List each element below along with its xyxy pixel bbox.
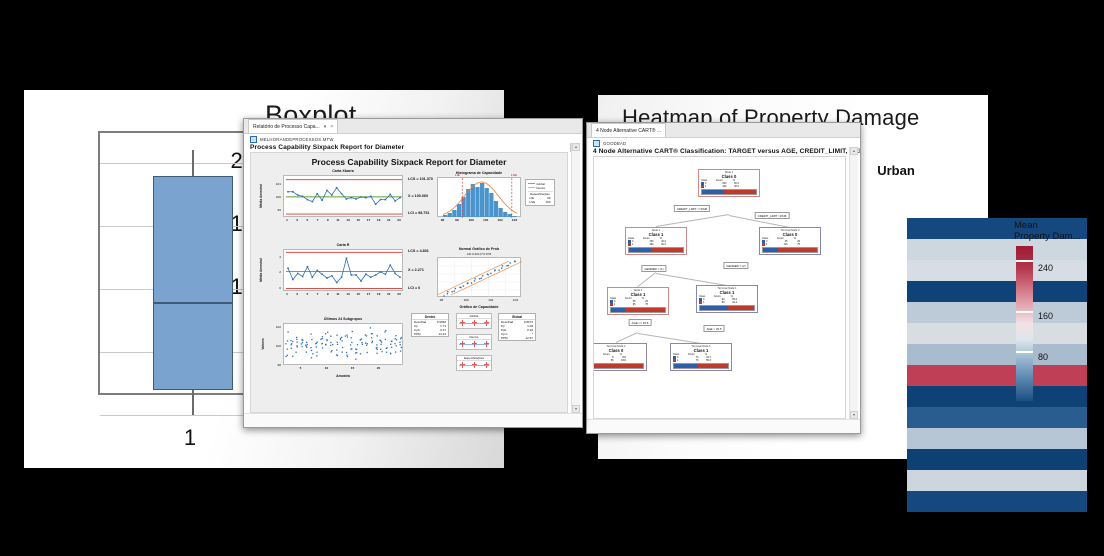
cart-status-bar [587, 419, 860, 433]
heatmap-cell [907, 323, 1087, 344]
heatmap-legend: Mean Property Dam... 240 160 80 [1014, 220, 1100, 242]
cart-node-table: ClassCount%0552519575 [610, 297, 666, 306]
capability-mini-box: Dentro [456, 334, 492, 350]
sixpack-x-tick: 13 [345, 218, 351, 222]
mini-box-scale [457, 340, 491, 349]
sixpack-y-tick: 99 [271, 208, 281, 212]
tab-sixpack-report[interactable]: Relatório de Processo Capa... ▾ × [248, 119, 338, 133]
sixpack-worksheet-name: MELHORANDEPROCESSOS.MTW [260, 137, 334, 142]
boxplot-whisker-upper [192, 150, 194, 176]
cart-edge [656, 214, 729, 227]
legend-swatch [528, 187, 535, 188]
cart-node-table: ClassCount%09055.618044.4 [699, 295, 755, 304]
worksheet-icon [250, 136, 257, 143]
spec-cell: LSE [530, 200, 536, 204]
histogram-legend: GlobalDentroEspecificaçõesLIE99LSE100 [525, 179, 555, 206]
boxplot-whisker-lower [192, 390, 194, 415]
cart-split-label: AGE > 33.5 [703, 325, 724, 332]
sixpack-chart-title: Normal Gráfico de Prob [459, 247, 499, 251]
sixpack-y-tick: 100 [271, 195, 281, 199]
cart-edge [638, 273, 656, 287]
sixpack-chart-title: Histograma de Capacidade [456, 171, 502, 175]
cart-node-table: ClassCount%02525111575 [762, 237, 818, 246]
heatmap-legend-tick: 240 [1038, 263, 1053, 273]
sixpack-plot-area [283, 249, 403, 291]
cart-tab-bar[interactable]: 4 Node Alternative CART® ... [587, 123, 860, 138]
cart-node[interactable]: Terminal Node 2Class 0ClassCount%089%156… [593, 343, 647, 371]
within-cell: 13.43 [438, 332, 446, 336]
sixpack-x-axis-label: Amostra [336, 374, 350, 378]
sixpack-lcl-label: LCI = 0 [408, 286, 420, 290]
sixpack-tab-bar[interactable]: Relatório de Processo Capa... ▾ × [244, 119, 582, 134]
sixpack-x-tick: 5 [304, 292, 310, 296]
sixpack-x-tick: 11 [335, 218, 341, 222]
sixpack-x-tick: 23 [396, 292, 402, 296]
heatmap-cell [907, 239, 1087, 260]
sixpack-canvas-area: Process Capability Sixpack Report for Di… [250, 152, 568, 413]
window-sixpack-report[interactable]: Relatório de Processo Capa... ▾ × MELHOR… [243, 118, 583, 428]
presentation-canvas: Boxplot 0 5 10 15 20 1 Heatmap of Proper… [0, 0, 1104, 556]
capability-mini-box: Especificações [456, 355, 492, 371]
sixpack-y-tick: 102 [270, 325, 281, 329]
sixpack-x-tick: 13 [345, 292, 351, 296]
boxplot-median-line [153, 302, 233, 304]
sixpack-x-tick: 101 [481, 218, 490, 222]
worksheet-icon [593, 140, 600, 147]
sixpack-center-label: X = 2.271 [408, 268, 424, 272]
heatmap-cell [907, 302, 1087, 323]
cart-node[interactable]: Node 2Class 1ClassCount%015040.0119060.0 [625, 227, 687, 255]
overall-cell: PPM [501, 336, 508, 340]
spec-limit-label: LIE [455, 173, 460, 177]
sixpack-ucl-label: LCS = 101.370 [408, 177, 433, 181]
sixpack-chart-title: Últimos 24 Subgrupos [324, 317, 362, 321]
cart-node-bar [762, 247, 818, 253]
sixpack-x-tick: 99 [452, 218, 461, 222]
sixpack-x-tick: 15 [355, 292, 361, 296]
sixpack-x-tick: 103 [511, 298, 520, 302]
cart-split-label: AGE <= 33.5 [629, 319, 652, 326]
spec-cell: 100 [545, 200, 550, 204]
cart-worksheet-name: GOODBAD [603, 141, 626, 146]
sixpack-x-tick: 17 [365, 292, 371, 296]
sixpack-x-tick: 23 [396, 218, 402, 222]
sixpack-x-tick: 5 [304, 218, 310, 222]
overall-cell: 12.97 [525, 336, 533, 340]
cart-node-table: ClassCount%015040.0119060.0 [628, 237, 684, 246]
sixpack-x-tick: 20 [375, 366, 382, 370]
sixpack-x-tick: 3 [294, 218, 300, 222]
overall-row: PPM12.97 [499, 336, 535, 340]
cart-node[interactable]: Node 1Class 0ClassCount%060060.0140040.0 [698, 169, 760, 197]
cart-edge [638, 333, 701, 344]
heatmap-legend-tick: 80 [1038, 352, 1048, 362]
heatmap-cell [907, 386, 1087, 407]
cart-node[interactable]: Node 4Class 1ClassCount%0552519575 [607, 287, 669, 315]
heatmap-cell [907, 491, 1087, 512]
heatmap-cell [907, 260, 1087, 281]
cart-node-table: ClassCount%089%15691% [593, 353, 644, 362]
within-row: PPM13.43 [412, 332, 448, 336]
sixpack-x-tick: 15 [349, 366, 356, 370]
sixpack-x-tick: 102 [496, 218, 505, 222]
chevron-down-icon[interactable]: ▾ [324, 124, 327, 130]
cart-node-bar [628, 247, 684, 253]
sixpack-x-tick: 100 [467, 218, 476, 222]
sixpack-worksheet-row: MELHORANDEPROCESSOS.MTW [244, 134, 582, 143]
cart-edge [656, 273, 727, 286]
sixpack-y-tick: 4 [271, 255, 281, 259]
sixpack-y-tick: 0 [271, 286, 281, 290]
scroll-up-icon[interactable]: ▴ [572, 143, 580, 151]
sixpack-x-tick: 9 [325, 218, 331, 222]
boxplot-xtick: 1 [184, 425, 196, 451]
tab-cart-report[interactable]: 4 Node Alternative CART® ... [591, 123, 666, 137]
cart-node-bar [610, 307, 666, 313]
heatmap-cell [907, 428, 1087, 449]
cart-split-label: GENDER = (1) [641, 265, 666, 272]
sixpack-x-tick: 7 [315, 218, 321, 222]
sixpack-x-tick: 3 [294, 292, 300, 296]
sixpack-plot-area [283, 323, 403, 365]
heatmap-cell [907, 344, 1087, 365]
close-icon[interactable]: × [330, 124, 333, 130]
sixpack-y-tick: 101 [271, 182, 281, 186]
sixpack-x-tick: 5 [297, 366, 304, 370]
colorbar-notch [1016, 311, 1033, 313]
cart-tree-diagram: Node 1Class 0ClassCount%060060.0140040.0… [594, 157, 845, 418]
sixpack-y-tick: 100 [270, 344, 281, 348]
sixpack-x-tick: 19 [376, 292, 382, 296]
sixpack-plot-area [437, 177, 521, 217]
sixpack-y-axis-label: Média Amostral [259, 258, 263, 282]
cart-split-label: CREDIT_LIMIT >1546 [755, 212, 790, 219]
sixpack-chart-subtitle: AD:0.201;P:0.878 [467, 252, 491, 256]
boxplot-chart: 0 5 10 15 20 1 [40, 125, 255, 455]
capability-table: DentroDesvPad0.9566Cp1.71CpK0.37PPM13.43 [411, 313, 449, 337]
sixpack-chart-title: Carta Xbarra [332, 169, 354, 173]
colorbar-notch [1016, 260, 1033, 262]
cart-node[interactable]: Terminal Node 4Class 1ClassCount%07044.7… [670, 343, 732, 371]
sixpack-x-tick: 11 [335, 292, 341, 296]
capability-mini-box: Global [456, 313, 492, 329]
mini-box-scale [457, 361, 491, 370]
sixpack-x-tick: 21 [386, 218, 392, 222]
colorbar-notch [1016, 351, 1033, 353]
sixpack-x-tick: 98 [438, 218, 447, 222]
sixpack-ucl-label: LCS = 4.801 [408, 249, 429, 253]
cart-canvas-area: Node 1Class 0ClassCount%060060.0140040.0… [593, 156, 846, 419]
cart-worksheet-row: GOODBAD [587, 138, 860, 147]
sixpack-x-tick: 7 [315, 292, 321, 296]
within-cell: PPM [414, 332, 421, 336]
sixpack-scrollbar[interactable]: ▴ ▾ [571, 143, 580, 413]
spec-limit-label: LSE [511, 173, 517, 177]
cart-scrollbar[interactable]: ▴ ▾ [849, 147, 858, 419]
legend-swatch [528, 183, 535, 184]
sixpack-y-axis-label: Média Amostral [259, 184, 263, 208]
sixpack-x-tick: 102 [486, 298, 495, 302]
heatmap-colorbar [1016, 246, 1033, 401]
sixpack-chart-title: Carta R [337, 243, 350, 247]
legend-label: Dentro [537, 186, 546, 190]
sixpack-plot-area [437, 257, 521, 297]
heatmap-column-header: Urban [877, 163, 915, 178]
sixpack-x-tick: 15 [355, 218, 361, 222]
capability-table: GlobalDesvPad0.8673Pp1.08Ppk0.36Cpm*PPM1… [498, 313, 536, 341]
scroll-up-icon[interactable]: ▴ [850, 147, 858, 155]
scroll-down-icon[interactable]: ▾ [572, 405, 580, 413]
cart-node-table: ClassCount%060060.0140040.0 [701, 179, 757, 188]
heatmap-legend-title-line1: Mean [1014, 220, 1100, 231]
sixpack-y-tick: 2 [271, 270, 281, 274]
sixpack-chart-title: Gráfico de Capacidade [460, 305, 499, 309]
sixpack-status-bar [244, 413, 582, 427]
cart-node-bar [673, 363, 729, 369]
sixpack-x-tick: 19 [376, 218, 382, 222]
sixpack-x-tick: 21 [386, 292, 392, 296]
heatmap-cell [907, 449, 1087, 470]
heatmap-legend-title-line2: Property Dam... [1014, 231, 1100, 242]
sixpack-x-tick: 1 [284, 218, 290, 222]
sixpack-lcl-label: LCI = 98.751 [408, 211, 429, 215]
tab-sixpack-label: Relatório de Processo Capa... [253, 124, 320, 130]
sixpack-report-graphic: Process Capability Sixpack Report for Di… [251, 153, 567, 412]
heatmap-cell [907, 470, 1087, 491]
sixpack-x-tick: 98 [437, 298, 446, 302]
heatmap-legend-tick: 160 [1038, 311, 1053, 321]
sixpack-x-tick: 103 [510, 218, 519, 222]
tab-cart-label: 4 Node Alternative CART® ... [596, 128, 661, 134]
legend-item: Dentro [528, 186, 553, 190]
sixpack-plot-area [283, 175, 403, 217]
sixpack-x-tick: 9 [325, 292, 331, 296]
sixpack-y-axis-label: Valores [261, 338, 265, 349]
boxplot-box [153, 176, 233, 390]
heatmap-cell [907, 365, 1087, 386]
cart-split-label: GENDER = (2) [723, 262, 748, 269]
cart-node-table: ClassCount%07044.717655.3 [673, 353, 729, 362]
sixpack-y-tick: 98 [270, 363, 281, 367]
cart-node[interactable]: Terminal Node 1Class 1ClassCount%09055.6… [696, 285, 758, 313]
cart-node-bar [701, 189, 757, 195]
heatmap-cell [907, 281, 1087, 302]
window-cart-report[interactable]: 4 Node Alternative CART® ... GOODBAD 4 N… [586, 122, 861, 434]
sixpack-x-tick: 10 [323, 366, 330, 370]
cart-node-bar [699, 305, 755, 311]
mini-box-scale [457, 319, 491, 328]
cart-split-label: CREDIT_LIMIT <=1546 [674, 205, 710, 212]
sixpack-x-tick: 1 [284, 292, 290, 296]
sixpack-x-tick: 17 [365, 218, 371, 222]
sixpack-report-title: Process Capability Sixpack Report for Di… [251, 157, 567, 167]
cart-node[interactable]: Terminal Node 3Class 0ClassCount%0252511… [759, 227, 821, 255]
spec-row: LSE100 [528, 200, 553, 204]
scroll-down-icon[interactable]: ▾ [850, 411, 858, 419]
cart-node-bar [593, 363, 644, 369]
cart-edge [616, 332, 638, 343]
sixpack-center-label: X = 100.060 [408, 194, 428, 198]
heatmap-cell [907, 407, 1087, 428]
sixpack-x-tick: 100 [462, 298, 471, 302]
